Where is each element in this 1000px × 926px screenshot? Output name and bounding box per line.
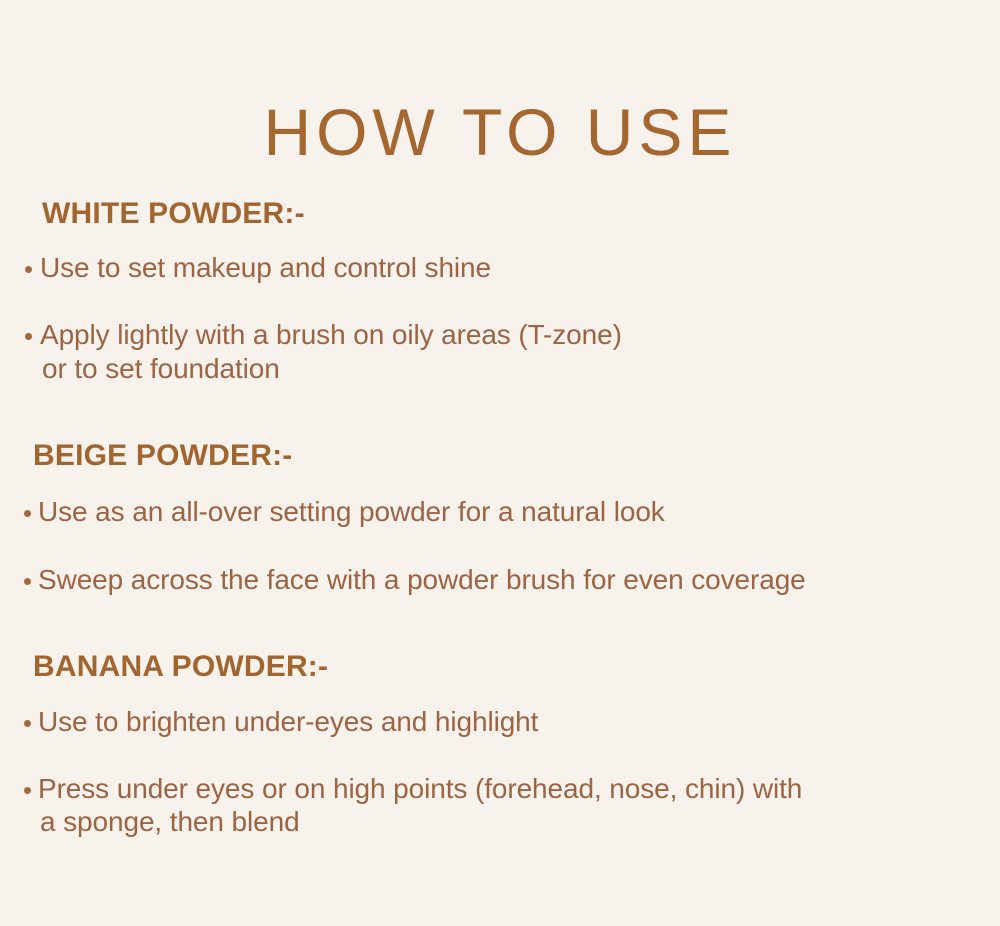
list-item-line-1: Use as an all-over setting powder for a …	[38, 496, 665, 527]
section-beige-powder: BEIGE POWDER:- Use as an all-over settin…	[0, 438, 1000, 597]
bullet-dot-icon	[24, 787, 31, 794]
section-heading-white-powder: WHITE POWDER:-	[0, 196, 1000, 232]
list-item-line-2: or to set foundation	[40, 352, 1000, 385]
bullet-list-banana-powder: Use to brighten under-eyes and highlight…	[0, 705, 1000, 839]
list-item-line-1: Use to set makeup and control shine	[40, 252, 491, 283]
section-banana-powder: BANANA POWDER:- Use to brighten under-ey…	[0, 649, 1000, 839]
how-to-use-page: HOW TO USE WHITE POWDER:- Use to set mak…	[0, 0, 1000, 926]
list-item-line-1: Use to brighten under-eyes and highlight	[38, 706, 538, 737]
list-item: Use as an all-over setting powder for a …	[0, 495, 1000, 528]
bullet-dot-icon	[25, 266, 32, 273]
page-title: HOW TO USE	[0, 96, 1000, 170]
section-heading-banana-powder: BANANA POWDER:-	[0, 649, 1000, 685]
bullet-dot-icon	[24, 510, 31, 517]
bullet-dot-icon	[24, 578, 31, 585]
list-item-line-2: a sponge, then blend	[38, 805, 1000, 838]
list-item-line-1: Sweep across the face with a powder brus…	[38, 564, 806, 595]
list-item-line-1: Apply lightly with a brush on oily areas…	[40, 319, 622, 350]
list-item: Use to brighten under-eyes and highlight	[0, 705, 1000, 738]
list-item: Press under eyes or on high points (fore…	[0, 772, 1000, 839]
instructions-content: WHITE POWDER:- Use to set makeup and con…	[0, 196, 1000, 839]
bullet-list-white-powder: Use to set makeup and control shine Appl…	[0, 251, 1000, 385]
section-heading-beige-powder: BEIGE POWDER:-	[0, 438, 1000, 474]
bullet-dot-icon	[24, 720, 31, 727]
list-item: Sweep across the face with a powder brus…	[0, 563, 1000, 596]
bullet-dot-icon	[25, 333, 32, 340]
bullet-list-beige-powder: Use as an all-over setting powder for a …	[0, 495, 1000, 597]
section-white-powder: WHITE POWDER:- Use to set makeup and con…	[0, 196, 1000, 385]
list-item: Use to set makeup and control shine	[0, 251, 1000, 284]
list-item: Apply lightly with a brush on oily areas…	[0, 318, 1000, 385]
list-item-line-1: Press under eyes or on high points (fore…	[38, 773, 802, 804]
